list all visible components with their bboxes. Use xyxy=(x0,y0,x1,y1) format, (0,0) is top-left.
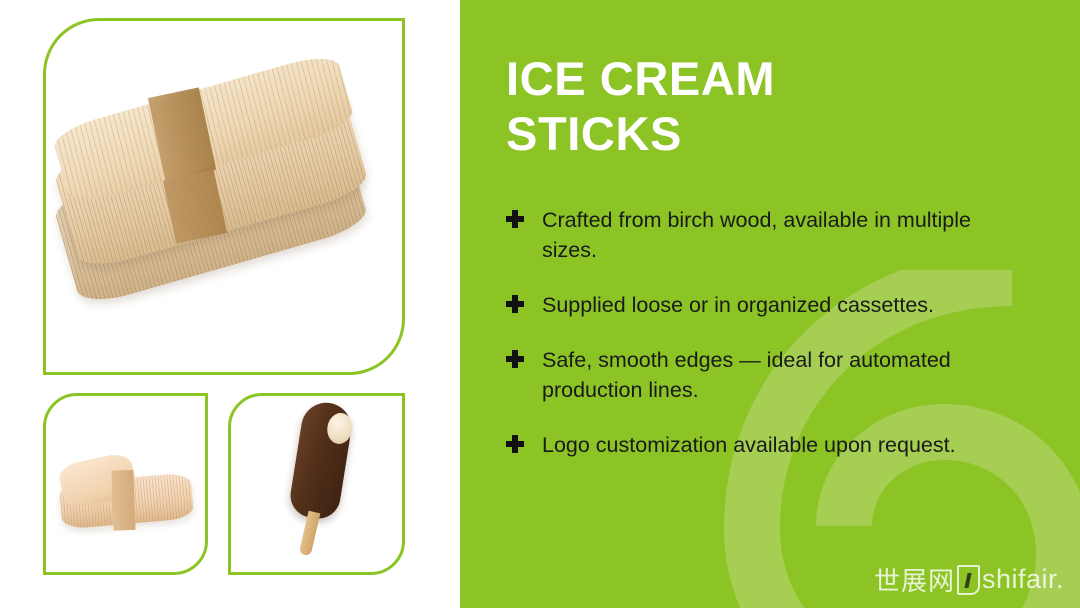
wooden-stick xyxy=(298,511,320,557)
plus-icon xyxy=(506,210,524,228)
chocolate-ice-cream-bar-photo xyxy=(231,396,402,572)
page-title: ICE CREAM STICKS xyxy=(506,52,1036,162)
thumbnail-frame-bundled-sticks[interactable] xyxy=(43,393,208,575)
bundle-paper-band xyxy=(111,469,135,530)
shifair-logo-icon xyxy=(957,565,980,595)
main-product-image-frame[interactable] xyxy=(43,18,405,375)
green-content-panel: ICE CREAM STICKS Crafted from birch wood… xyxy=(460,0,1080,608)
feature-bullet-list: Crafted from birch wood, available in mu… xyxy=(506,205,1036,460)
watermark: 世展网 shifair. xyxy=(874,561,1064,598)
bundled-sticks-photo xyxy=(46,396,205,572)
plus-icon xyxy=(506,350,524,368)
ice-cream-bar-illustration xyxy=(245,393,389,569)
plus-icon xyxy=(506,295,524,313)
slide-root: ICE CREAM STICKS Crafted from birch wood… xyxy=(0,0,1080,608)
plus-icon xyxy=(506,435,524,453)
thumbnail-frame-ice-cream-bar[interactable] xyxy=(228,393,405,575)
list-item-label: Crafted from birch wood, available in mu… xyxy=(542,205,982,266)
list-item: Logo customization available upon reques… xyxy=(506,430,1036,461)
page-title-line-2: STICKS xyxy=(506,107,1036,162)
list-item: Supplied loose or in organized cassettes… xyxy=(506,290,1036,321)
watermark-chinese-text: 世展网 xyxy=(874,561,955,598)
stacked-ice-cream-sticks-photo xyxy=(46,21,402,372)
list-item: Safe, smooth edges — ideal for automated… xyxy=(506,345,1036,406)
list-item: Crafted from birch wood, available in mu… xyxy=(506,205,1036,266)
stick-bundle-illustration xyxy=(56,450,194,539)
stick-stack-illustration xyxy=(43,38,405,369)
page-title-line-1: ICE CREAM xyxy=(506,52,1036,107)
image-column xyxy=(0,0,460,608)
watermark-latin-text: shifair. xyxy=(982,564,1064,595)
list-item-label: Supplied loose or in organized cassettes… xyxy=(542,290,934,321)
list-item-label: Safe, smooth edges — ideal for automated… xyxy=(542,345,982,406)
panel-content: ICE CREAM STICKS Crafted from birch wood… xyxy=(460,0,1080,460)
list-item-label: Logo customization available upon reques… xyxy=(542,430,956,461)
